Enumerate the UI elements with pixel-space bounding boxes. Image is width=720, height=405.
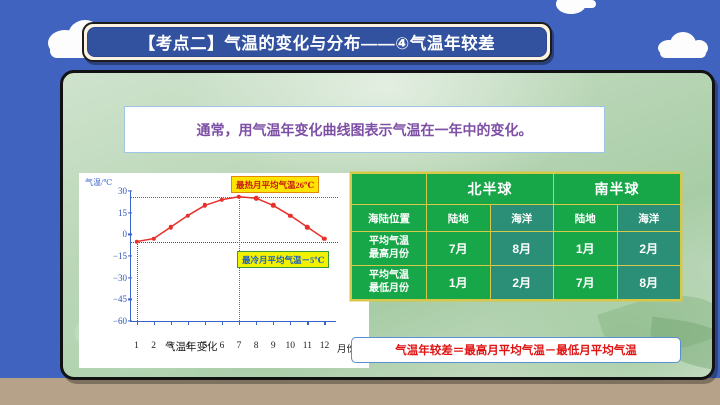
formula-box: 气温年较差＝最高月平均气温－最低月平均气温 xyxy=(351,337,681,363)
x-tick-label: 10 xyxy=(286,341,296,351)
x-tick-mark xyxy=(324,321,325,325)
subtitle-text: 通常，用气温年变化曲线图表示气温在一年中的变化。 xyxy=(197,120,533,140)
table-row-lowest-month: 平均气温 最低月份 1月 2月 7月 8月 xyxy=(352,266,681,300)
table-row-header: 北半球 南半球 xyxy=(352,174,681,205)
table-label-highest-month: 平均气温 最高月份 xyxy=(352,232,427,266)
table-header-northern: 北半球 xyxy=(427,174,554,205)
x-tick-mark xyxy=(273,321,274,325)
slide-stage: 【考点二】气温的变化与分布——④气温年较差 通常，用气温年变化曲线图表示气温在一… xyxy=(0,0,720,405)
table-value-lowest-north-ocean: 2月 xyxy=(490,266,554,300)
y-tick-mark xyxy=(128,212,132,213)
x-tick-label: 11 xyxy=(303,341,312,351)
x-tick-label: 12 xyxy=(320,341,330,351)
table-label-location: 海陆位置 xyxy=(352,205,427,232)
annotation-coldest-month: 最冷月平均气温－5℃ xyxy=(237,251,329,268)
x-tick-label: 8 xyxy=(254,341,259,351)
table-label-lowest-month-line2: 最低月份 xyxy=(352,283,426,296)
x-tick-mark xyxy=(188,321,189,325)
x-tick-mark xyxy=(154,321,155,325)
table-value-lowest-south-land: 7月 xyxy=(554,266,618,300)
annotation-hottest-month: 最热月平均气温26℃ xyxy=(231,176,319,193)
chart-y-axis-title: 气温/℃ xyxy=(85,177,112,188)
table-value-highest-north-land: 7月 xyxy=(427,232,491,266)
x-tick-label: 2 xyxy=(151,341,156,351)
x-tick-mark xyxy=(137,321,138,325)
x-tick-mark xyxy=(171,321,172,325)
table-cell-north-land: 陆地 xyxy=(427,205,491,232)
content-panel: 通常，用气温年变化曲线图表示气温在一年中的变化。 气温/℃ 30150−15−3… xyxy=(60,70,715,380)
table-header-southern: 南半球 xyxy=(554,174,681,205)
table-row-location: 海陆位置 陆地 海洋 陆地 海洋 xyxy=(352,205,681,232)
table-value-lowest-south-ocean: 8月 xyxy=(617,266,681,300)
table-cell-south-land: 陆地 xyxy=(554,205,618,232)
y-tick-mark xyxy=(128,234,132,235)
x-tick-mark xyxy=(307,321,308,325)
x-tick-label: 9 xyxy=(271,341,276,351)
table-corner-cell xyxy=(352,174,427,205)
y-tick-mark xyxy=(128,190,132,191)
table-cell-south-ocean: 海洋 xyxy=(617,205,681,232)
chart-caption: 气温年变化 xyxy=(165,339,218,354)
subtitle-box: 通常，用气温年变化曲线图表示气温在一年中的变化。 xyxy=(124,106,605,153)
temperature-chart: 气温/℃ 30150−15−30−45−60 123456789101112 月… xyxy=(79,173,369,368)
table-label-lowest-month: 平均气温 最低月份 xyxy=(352,266,427,300)
table-value-highest-north-ocean: 8月 xyxy=(490,232,554,266)
formula-text: 气温年较差＝最高月平均气温－最低月平均气温 xyxy=(395,342,637,358)
table-value-highest-south-ocean: 2月 xyxy=(617,232,681,266)
table-value-lowest-north-land: 1月 xyxy=(427,266,491,300)
hemisphere-table: 北半球 南半球 海陆位置 陆地 海洋 陆地 海洋 平均气温 最高月份 7月 xyxy=(351,173,681,300)
x-tick-label: 1 xyxy=(134,341,139,351)
x-tick-mark xyxy=(239,321,240,325)
page-title: 【考点二】气温的变化与分布——④气温年较差 xyxy=(139,30,496,54)
x-tick-mark xyxy=(290,321,291,325)
table-label-lowest-month-line1: 平均气温 xyxy=(352,270,426,283)
x-tick-mark xyxy=(256,321,257,325)
table-cell-north-ocean: 海洋 xyxy=(490,205,554,232)
chart-x-axis xyxy=(130,321,336,322)
title-banner: 【考点二】气温的变化与分布——④气温年较差 xyxy=(82,22,552,62)
y-tick-mark xyxy=(128,255,132,256)
table-label-highest-month-line1: 平均气温 xyxy=(352,236,426,249)
table-value-highest-south-land: 1月 xyxy=(554,232,618,266)
table-label-highest-month-line2: 最高月份 xyxy=(352,249,426,262)
x-tick-label: 7 xyxy=(237,341,242,351)
x-tick-mark xyxy=(222,321,223,325)
y-tick-mark xyxy=(128,299,132,300)
y-tick-mark xyxy=(128,277,132,278)
x-tick-label: 6 xyxy=(220,341,225,351)
y-tick-mark xyxy=(128,320,132,321)
title-banner-inner: 【考点二】气温的变化与分布——④气温年较差 xyxy=(87,27,547,57)
table-row-highest-month: 平均气温 最高月份 7月 8月 1月 2月 xyxy=(352,232,681,266)
x-tick-mark xyxy=(205,321,206,325)
